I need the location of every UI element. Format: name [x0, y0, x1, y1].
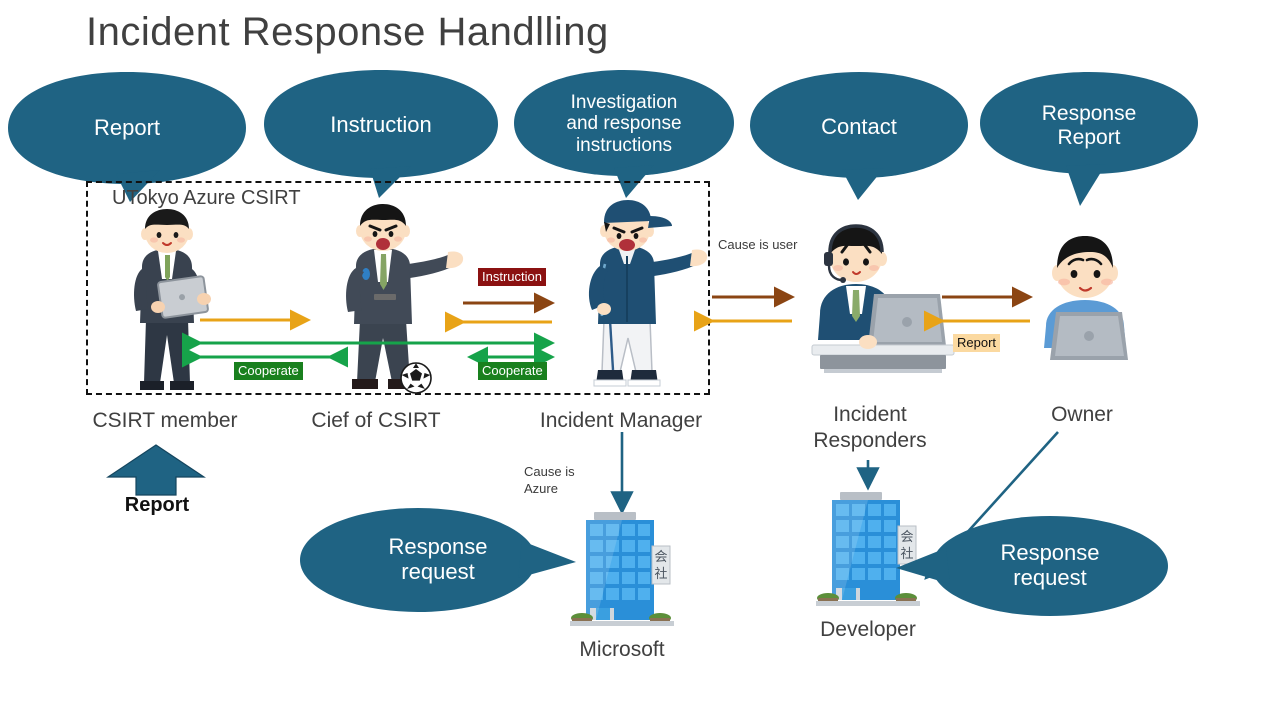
speech-bubble-response-request-developer-shape	[896, 516, 1168, 616]
caption-incident-manager: Incident Manager	[522, 408, 720, 434]
person-incident-manager	[572, 212, 704, 394]
person-owner	[1030, 234, 1140, 364]
incident-manager-illustration	[572, 212, 704, 394]
building-microsoft: 会 社	[570, 508, 674, 630]
caption-microsoft: Microsoft	[560, 638, 684, 662]
microsoft-building-illustration: 会 社	[570, 508, 674, 630]
speech-bubble-contact: Contact	[750, 72, 968, 200]
badge-cooperate-right: Cooperate	[478, 362, 547, 380]
svg-text:社: 社	[654, 566, 667, 582]
speech-bubble-response-request-microsoft-shape	[300, 508, 576, 612]
annotation-cause-is-azure: Cause is Azure	[524, 464, 575, 498]
speech-bubble-investigation-shape	[514, 70, 734, 198]
speech-bubble-response-report-shape	[980, 72, 1198, 206]
person-chief-of-csirt	[330, 212, 460, 394]
badge-instruction: Instruction	[478, 268, 546, 286]
chief-of-csirt-illustration	[330, 212, 460, 394]
annotation-cause-is-user: Cause is user	[718, 237, 797, 254]
speech-bubble-instruction-shape	[264, 70, 498, 198]
incident-responders-illustration	[790, 222, 950, 378]
owner-illustration	[1030, 234, 1140, 364]
speech-bubble-contact-shape	[750, 72, 968, 200]
csirt-member-illustration	[112, 215, 222, 395]
speech-bubble-response-request-microsoft: Response request	[300, 508, 576, 612]
svg-text:会: 会	[654, 550, 667, 565]
badge-report: Report	[953, 334, 1000, 352]
diagram-canvas: Incident Response Handlling Report Instr…	[0, 0, 1280, 720]
person-csirt-member	[112, 215, 222, 395]
person-incident-responders	[790, 222, 950, 378]
caption-chief-of-csirt: Cief of CSIRT	[300, 408, 452, 434]
speech-bubble-investigation: Investigation and response instructions	[514, 70, 734, 198]
speech-bubble-response-report: Response Report	[980, 72, 1198, 206]
caption-owner: Owner	[1018, 402, 1146, 428]
badge-cooperate-left: Cooperate	[234, 362, 303, 380]
speech-bubble-response-request-developer: Response request	[896, 516, 1168, 616]
caption-developer: Developer	[806, 618, 930, 642]
page-title: Incident Response Handlling	[86, 10, 609, 55]
inbound-report-arrow	[108, 445, 204, 495]
caption-csirt-member: CSIRT member	[70, 408, 260, 434]
caption-incident-responders: Incident Responders	[790, 402, 950, 455]
soccer-ball-icon	[400, 362, 432, 394]
speech-bubble-instruction: Instruction	[264, 70, 498, 198]
inbound-report-label: Report	[114, 494, 200, 517]
utokyo-azure-csirt-label: UTokyo Azure CSIRT	[112, 187, 301, 210]
